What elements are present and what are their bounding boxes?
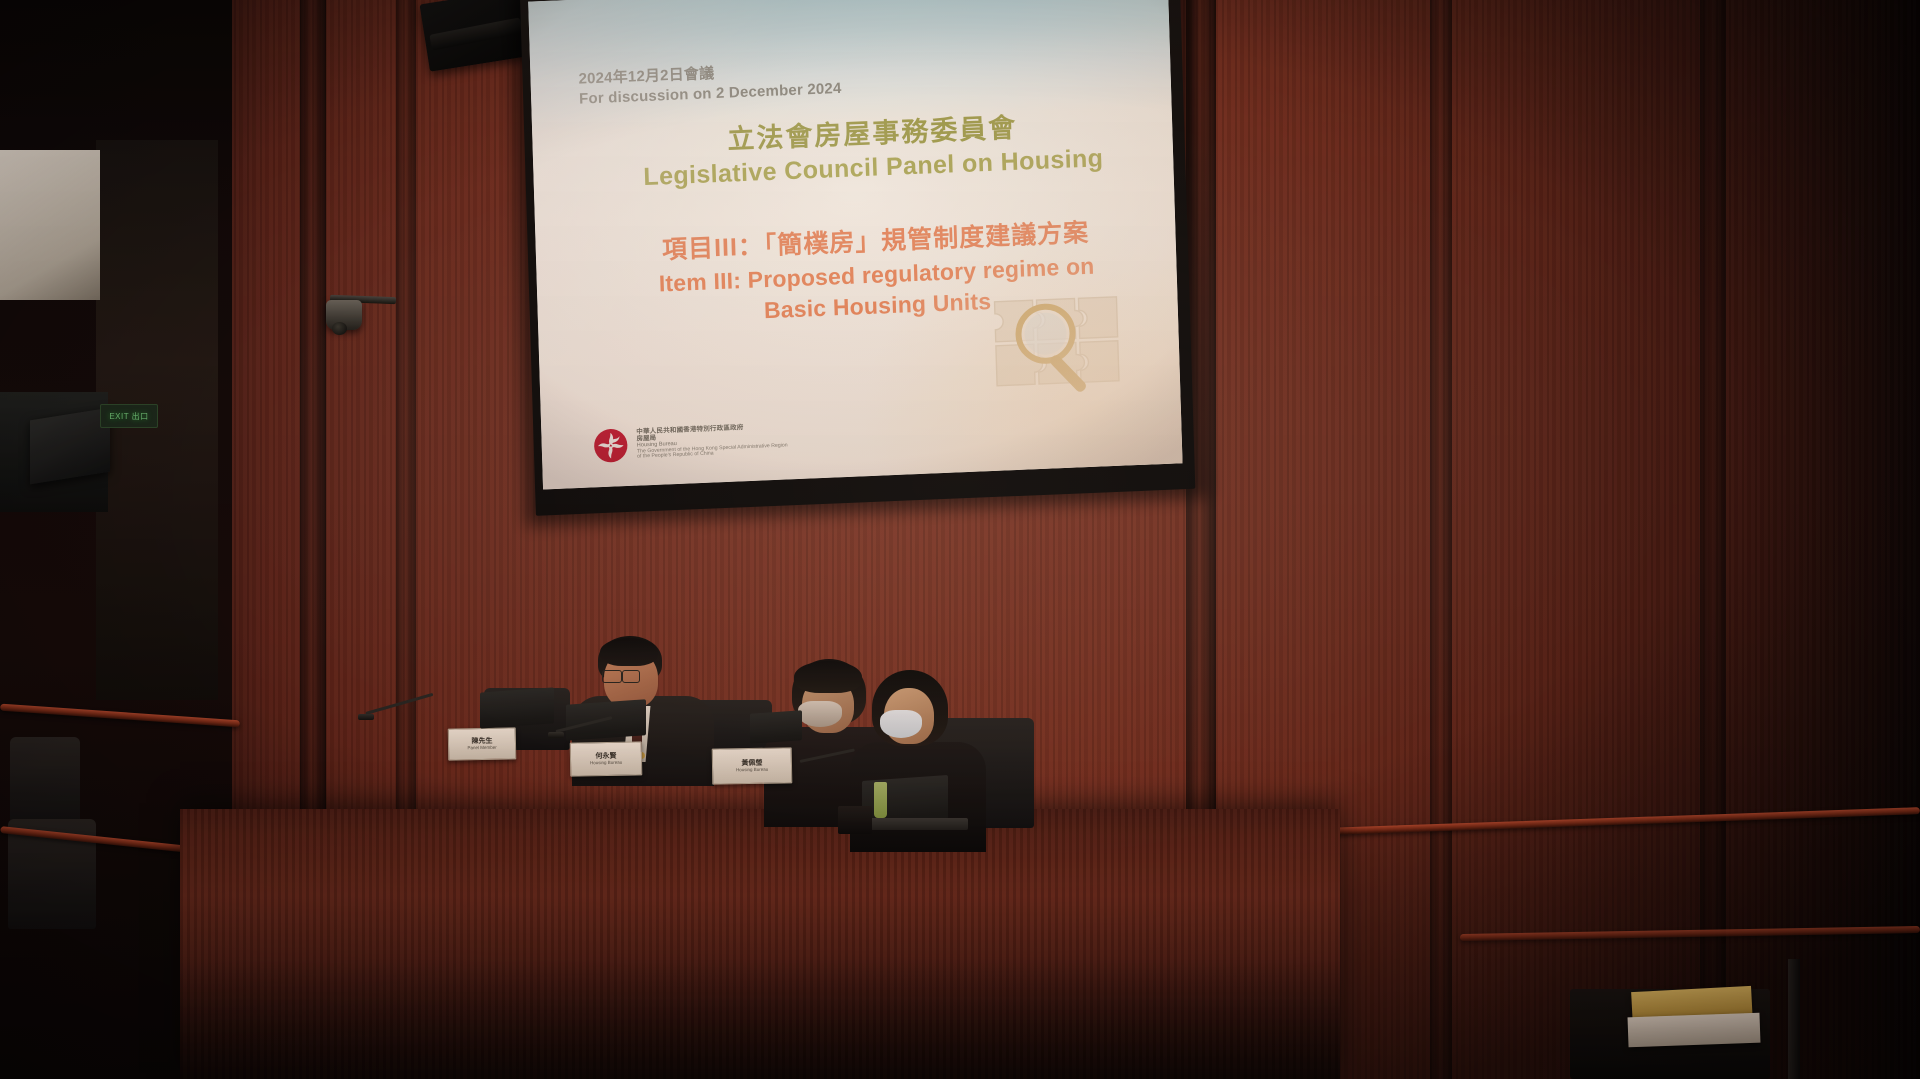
left-light-panel	[0, 150, 100, 300]
official-2-hair-top	[794, 661, 862, 693]
dais-shadow	[180, 959, 1340, 1079]
microphone-base	[548, 732, 564, 738]
presentation-slide: 2024年12月2日會議 For discussion on 2 Decembe…	[528, 0, 1182, 489]
panel-dais	[180, 809, 1340, 1079]
trolley-pole	[1788, 959, 1800, 1079]
glasses-icon	[622, 670, 640, 683]
gallery-chair	[10, 737, 80, 829]
screen-surface: 2024年12月2日會議 For discussion on 2 Decembe…	[528, 0, 1182, 489]
nameplate-zh: 陳先生	[471, 737, 492, 744]
nameplate-zh: 黃佩瑩	[741, 759, 762, 766]
slide-title: 立法會房屋事務委員會 Legislative Council Panel on …	[602, 107, 1144, 195]
projection-screen: 2024年12月2日會議 For discussion on 2 Decembe…	[520, 0, 1195, 516]
nameplate-seat-1: 陳先生 Panel Member	[448, 727, 517, 760]
water-bottle	[874, 782, 887, 818]
hk-government-logo: 中華人民共和國香港特別行政區政府 房屋局 Housing Bureau The …	[591, 419, 788, 465]
nameplate-seat-3: 黃佩瑩 Housing Bureau	[712, 747, 793, 784]
glasses-icon	[602, 670, 622, 683]
desk-device	[838, 806, 872, 834]
exit-sign: EXIT 出口	[100, 404, 158, 428]
camera-lens-icon	[332, 322, 347, 335]
slide-header: 2024年12月2日會議 For discussion on 2 Decembe…	[578, 52, 999, 110]
logo-text-block: 中華人民共和國香港特別行政區政府 房屋局 Housing Bureau The …	[636, 422, 788, 461]
official-2-lower-face	[798, 701, 842, 727]
nameplate-en: Housing Bureau	[736, 767, 768, 773]
meeting-room-photo: EXIT 出口 2024年12月2日會議 For discussion on 2…	[0, 0, 1920, 1079]
desk-monitor-3	[750, 710, 802, 744]
document-stack-white	[1628, 1013, 1761, 1048]
nameplate-en: Panel Member	[467, 745, 496, 750]
exit-sign-label: EXIT 出口	[109, 411, 148, 422]
bauhinia-emblem-icon	[591, 426, 630, 466]
nameplate-en: Housing Bureau	[590, 760, 622, 766]
desk-monitor-1	[480, 687, 554, 728]
laptop-base	[856, 818, 968, 830]
microphone-base	[358, 714, 374, 720]
nameplate-zh: 何永賢	[595, 752, 616, 759]
wall-speaker	[30, 408, 110, 485]
official-1-hair-top	[600, 638, 658, 666]
face-mask-icon	[880, 710, 922, 738]
nameplate-seat-2: 何永賢 Housing Bureau	[570, 741, 643, 776]
puzzle-magnifier-icon	[972, 278, 1151, 420]
